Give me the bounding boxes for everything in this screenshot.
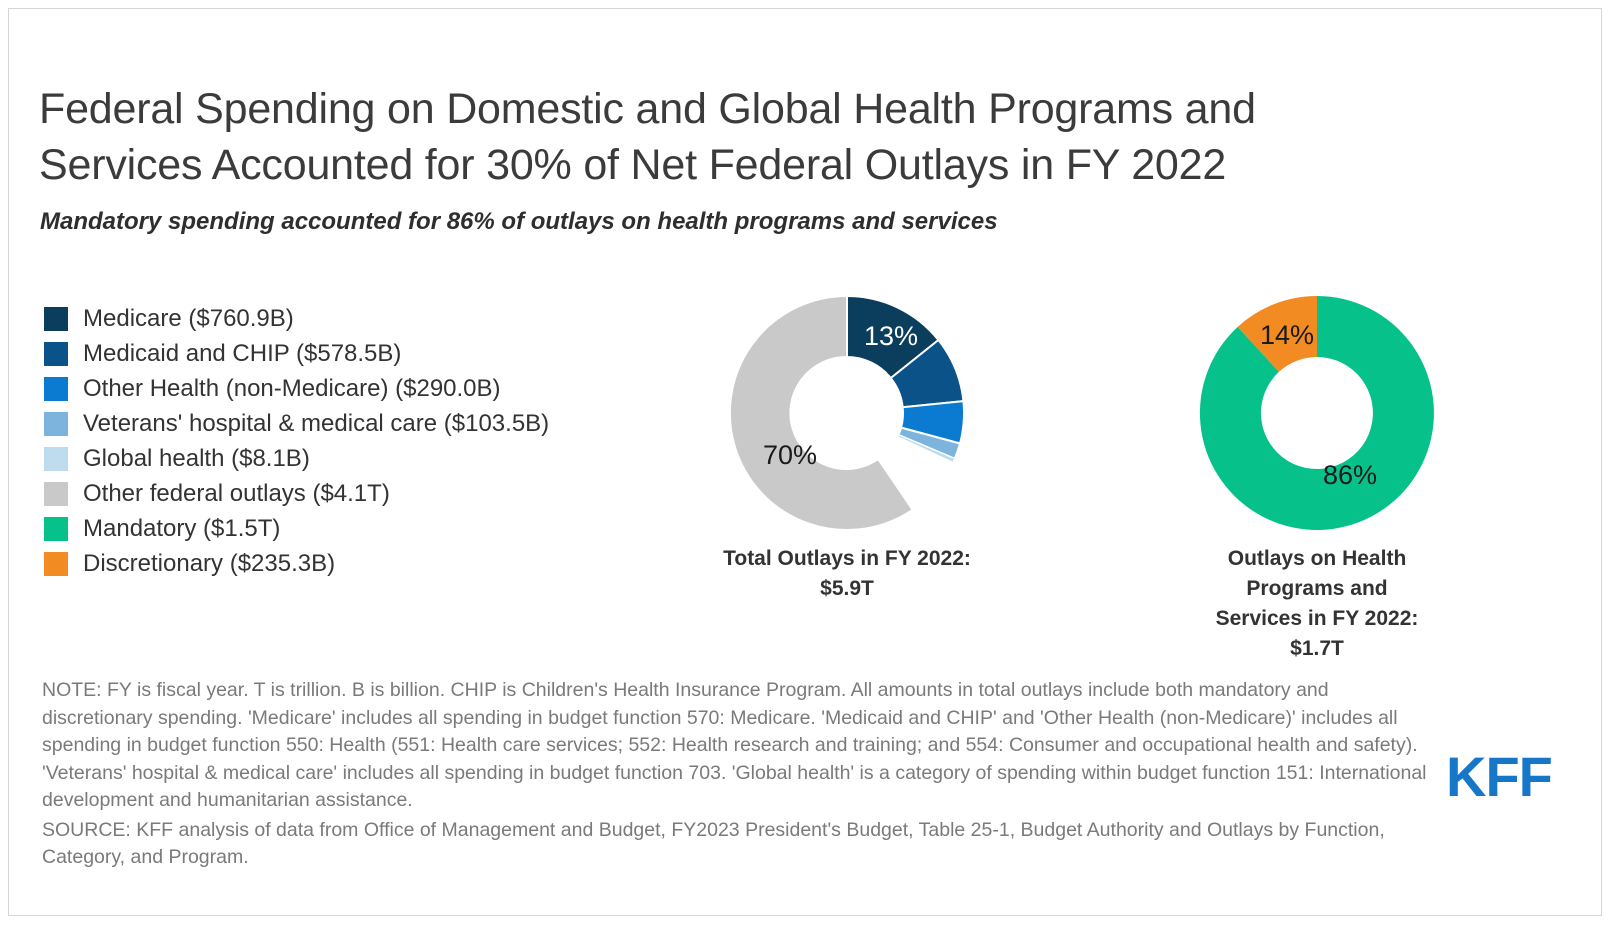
legend-swatch-icon: [44, 552, 68, 576]
donut-2-svg: [1182, 292, 1452, 534]
donut-1-svg: [712, 292, 982, 534]
donut-1-caption-line-1: Total Outlays in FY 2022:: [712, 544, 982, 574]
legend-item[interactable]: Other federal outlays ($4.1T): [44, 476, 664, 511]
legend-swatch-icon: [44, 447, 68, 471]
page-title: Federal Spending on Domestic and Global …: [39, 81, 1459, 193]
legend-item[interactable]: Medicare ($760.9B): [44, 301, 664, 336]
legend-swatch-icon: [44, 412, 68, 436]
legend-swatch-icon: [44, 377, 68, 401]
title-line-2: Services Accounted for 30% of Net Federa…: [39, 137, 1459, 193]
legend-item[interactable]: Mandatory ($1.5T): [44, 511, 664, 546]
title-line-1: Federal Spending on Domestic and Global …: [39, 81, 1459, 137]
legend-item[interactable]: Medicaid and CHIP ($578.5B): [44, 336, 664, 371]
legend-swatch-icon: [44, 342, 68, 366]
donut-2-caption-line-2: Services in FY 2022:: [1182, 604, 1452, 634]
legend-item-label: Medicaid and CHIP ($578.5B): [83, 340, 401, 368]
donut-1-hole: [792, 358, 902, 468]
chart-canvas: Federal Spending on Domestic and Global …: [8, 8, 1602, 916]
donut-2-hole: [1262, 358, 1372, 468]
donut-2-graphic: 14% 86%: [1182, 292, 1452, 534]
legend-item-label: Other federal outlays ($4.1T): [83, 480, 390, 508]
donut-1-caption-line-2: $5.9T: [712, 574, 982, 604]
legend-swatch-icon: [44, 482, 68, 506]
total-outlays-chart: 13% 70% Total Outlays in FY 2022: $5.9T: [712, 292, 982, 604]
legend-item-label: Mandatory ($1.5T): [83, 515, 280, 543]
chart-legend: Medicare ($760.9B) Medicaid and CHIP ($5…: [44, 301, 664, 581]
legend-swatch-icon: [44, 517, 68, 541]
donut-1-graphic: 13% 70%: [712, 292, 982, 534]
source-text: SOURCE: KFF analysis of data from Office…: [42, 817, 1432, 872]
legend-item-label: Medicare ($760.9B): [83, 305, 294, 333]
legend-item[interactable]: Other Health (non-Medicare) ($290.0B): [44, 371, 664, 406]
donut-2-caption-line-1: Outlays on Health Programs and: [1182, 544, 1452, 604]
footnotes: NOTE: FY is fiscal year. T is trillion. …: [42, 677, 1432, 872]
legend-item-label: Veterans' hospital & medical care ($103.…: [83, 410, 549, 438]
page-subtitle: Mandatory spending accounted for 86% of …: [40, 207, 1340, 237]
note-text: NOTE: FY is fiscal year. T is trillion. …: [42, 677, 1432, 815]
legend-swatch-icon: [44, 307, 68, 331]
donut-2-caption-line-3: $1.7T: [1182, 634, 1452, 664]
donut-1-caption: Total Outlays in FY 2022: $5.9T: [712, 544, 982, 604]
legend-item-label: Global health ($8.1B): [83, 445, 310, 473]
donut-2-caption: Outlays on Health Programs and Services …: [1182, 544, 1452, 664]
health-outlays-chart: 14% 86% Outlays on Health Programs and S…: [1182, 292, 1452, 664]
legend-item-label: Discretionary ($235.3B): [83, 550, 335, 578]
legend-item-label: Other Health (non-Medicare) ($290.0B): [83, 375, 501, 403]
kff-logo: KFF: [1446, 744, 1552, 809]
legend-item[interactable]: Veterans' hospital & medical care ($103.…: [44, 406, 664, 441]
legend-item[interactable]: Global health ($8.1B): [44, 441, 664, 476]
legend-item[interactable]: Discretionary ($235.3B): [44, 546, 664, 581]
